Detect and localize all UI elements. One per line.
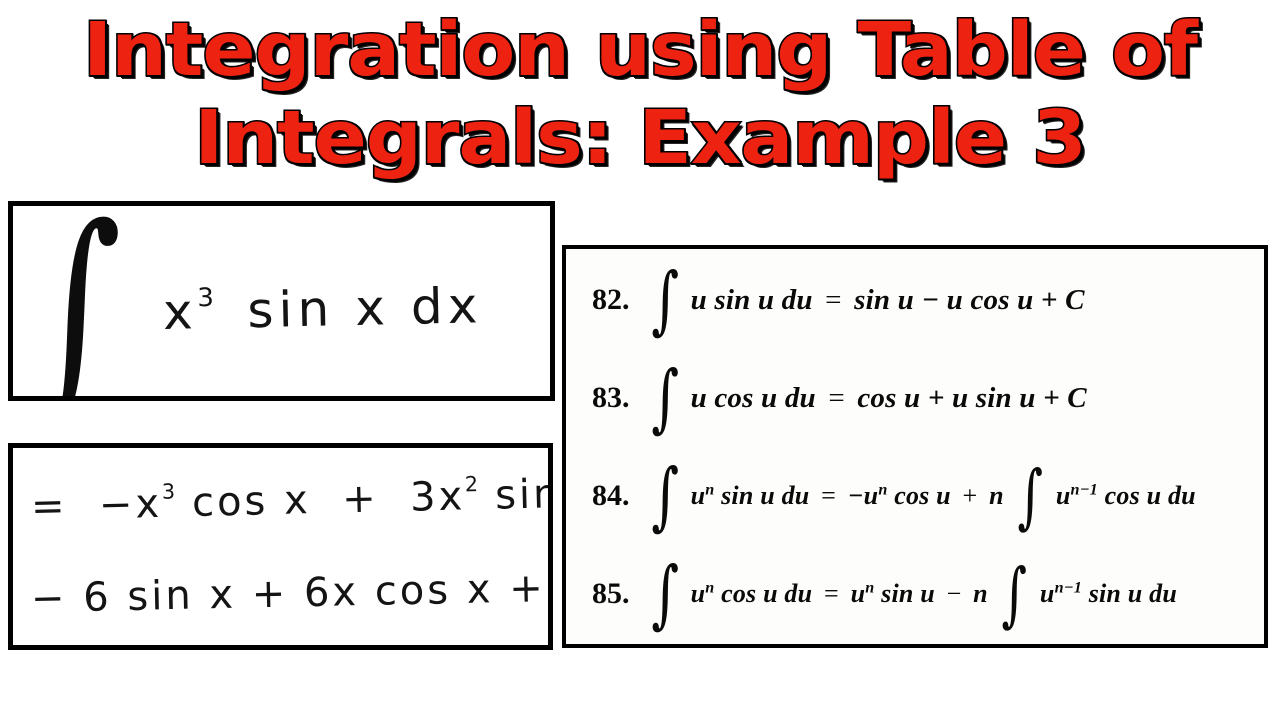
problem-rest: sin x dx [247, 277, 483, 339]
formula-number: 84. [592, 479, 644, 513]
answer-line-2: − 6 sin x + 6x cos x + C [31, 564, 553, 622]
integral-sign-icon: ∫ [30, 210, 123, 401]
formula-integrand-rest: sin u du [721, 481, 809, 510]
answer-term1-rest: cos x [191, 477, 311, 526]
answer-equals: = [30, 483, 68, 530]
formula-result-lead-base: u [851, 579, 866, 608]
formula-integrand-rest: cos u du [721, 579, 812, 608]
formula-integrand: u cos u du [691, 382, 816, 414]
formula-result-tail-base: u [1056, 481, 1071, 510]
formula-row: 82. ∫ u sin u du = sin u − u cos u + C [592, 273, 1085, 327]
formula-result-tail-rest: sin u du [1089, 579, 1177, 608]
formula-integrand-base: u [691, 481, 706, 510]
handwritten-answer-box: = −x3 cos x + 3x2 sin x − 6 sin x + 6x c… [8, 443, 553, 650]
integral-sign-icon: ∫ [651, 469, 679, 523]
formula-result: cos u + u sin u + C [857, 382, 1086, 414]
problem-base: x [162, 283, 198, 341]
formula-result-operator: − [942, 579, 967, 608]
answer-term2-rest: sin x [495, 470, 553, 519]
formula-equals: = [819, 579, 844, 608]
formula-integrand-base: u [691, 579, 706, 608]
answer-plus: + [342, 476, 380, 523]
formula-result-lead-exponent: n [878, 481, 887, 498]
formula-body: un cos u du = un sin u − n ∫ un−1 sin u … [691, 579, 1177, 609]
formula-body: u cos u du = cos u + u sin u + C [691, 382, 1087, 415]
page-title: Integration using Table of Integrals: Ex… [0, 0, 1280, 188]
answer-line-1: = −x3 cos x + 3x2 sin x [30, 470, 553, 530]
handwritten-problem-box: ∫ x3 sin x dx [8, 201, 555, 401]
formula-result-tail-rest: cos u du [1105, 481, 1196, 510]
formula-result-lead-base: −u [848, 481, 879, 510]
answer-term1-exponent: 3 [162, 479, 177, 503]
formula-result-coefficient: n [989, 481, 1004, 510]
formula-body: un sin u du = −un cos u + n ∫ un−1 cos u… [691, 481, 1196, 511]
integral-sign-icon: ∫ [651, 371, 679, 425]
formula-body: u sin u du = sin u − u cos u + C [691, 284, 1085, 317]
formula-result-tail-exponent: n−1 [1071, 481, 1098, 498]
problem-expression: x3 sin x dx [162, 277, 483, 341]
formula-row: 84. ∫ un sin u du = −un cos u + n ∫ un−1… [592, 469, 1196, 523]
formula-equals: = [823, 382, 850, 414]
formula-number: 83. [592, 381, 644, 415]
formula-row: 85. ∫ un cos u du = un sin u − n ∫ un−1 … [592, 567, 1177, 621]
formula-integrand-exponent: n [705, 579, 714, 596]
page-title-line-1: Integration using Table of [0, 0, 1280, 94]
formula-row: 83. ∫ u cos u du = cos u + u sin u + C [592, 371, 1087, 425]
answer-term2-exponent: 2 [465, 472, 480, 496]
answer-term2-base: 3x [410, 473, 466, 520]
formula-result-tail-base: u [1040, 579, 1055, 608]
formula-number: 85. [592, 577, 644, 611]
formula-result-lead-rest: cos u [894, 481, 951, 510]
formula-result: sin u − u cos u + C [854, 284, 1085, 316]
formula-equals: = [820, 284, 847, 316]
formula-integrand: u sin u du [691, 284, 813, 316]
integral-sign-icon: ∫ [651, 273, 679, 327]
formula-number: 82. [592, 283, 644, 317]
formula-result-coefficient: n [973, 579, 988, 608]
formula-result-lead-exponent: n [865, 579, 874, 596]
answer-term1-base: −x [98, 481, 162, 529]
page-title-line-2: Integrals: Example 3 [0, 94, 1280, 182]
formula-result-operator: + [958, 481, 983, 510]
formula-result-tail-exponent: n−1 [1055, 579, 1082, 596]
formula-result-lead-rest: sin u [881, 579, 935, 608]
table-of-integrals-panel: 82. ∫ u sin u du = sin u − u cos u + C 8… [562, 245, 1268, 648]
problem-exponent: 3 [197, 283, 215, 313]
formula-equals: = [816, 481, 841, 510]
integral-sign-icon: ∫ [651, 567, 679, 621]
formula-integrand-exponent: n [705, 481, 714, 498]
